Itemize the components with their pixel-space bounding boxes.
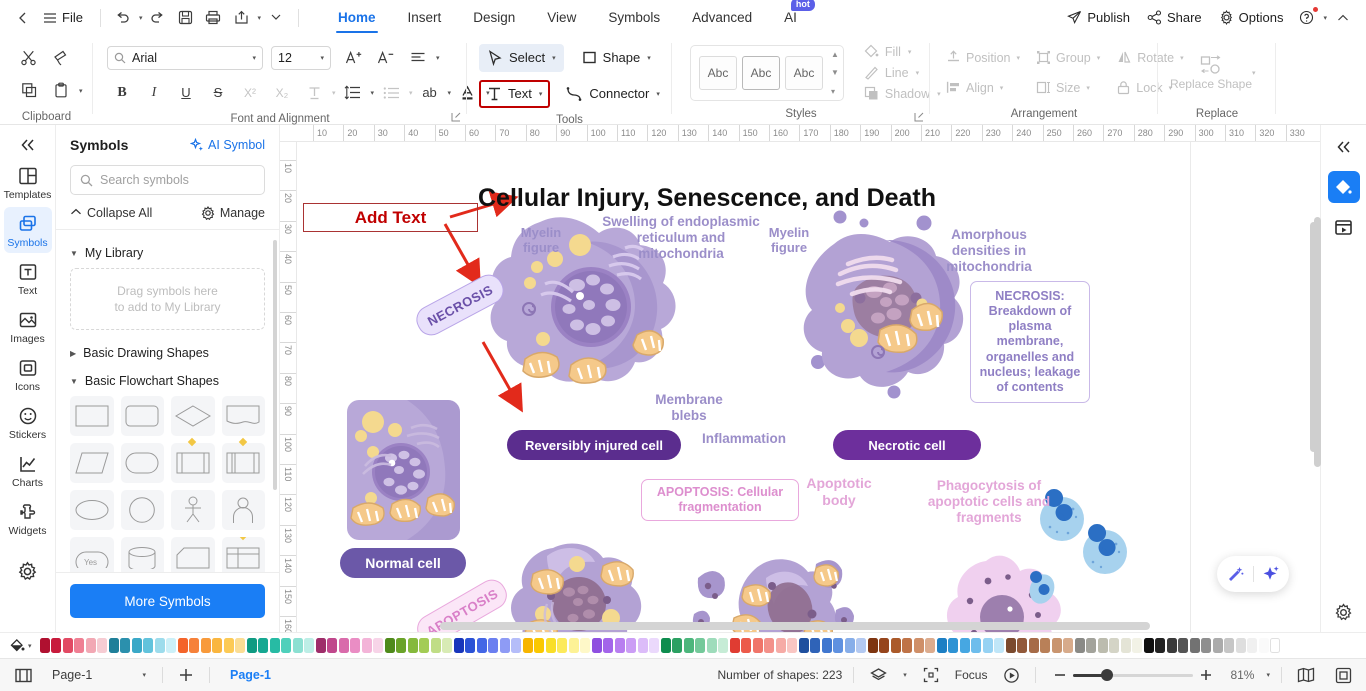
focus-icon[interactable] — [918, 662, 944, 688]
decrease-font-size-icon[interactable] — [371, 43, 401, 73]
ruler-tick: 280 — [1134, 125, 1153, 141]
color-swatch[interactable] — [787, 638, 797, 653]
adjust-handle[interactable] — [188, 438, 196, 446]
ruler-tick: 120 — [647, 125, 666, 141]
share-button[interactable]: Share — [1140, 6, 1209, 29]
palette-dropdown-icon[interactable]: ▾ — [28, 642, 32, 650]
color-swatch[interactable] — [1224, 638, 1234, 653]
font-dialog-launcher[interactable] — [451, 112, 461, 122]
color-swatch[interactable] — [304, 638, 314, 653]
color-swatch[interactable] — [1236, 638, 1246, 653]
color-swatch[interactable] — [511, 638, 521, 653]
color-swatch[interactable] — [776, 638, 786, 653]
add-page-button[interactable] — [173, 662, 199, 688]
page-selector[interactable]: Page-1 ▾ — [46, 664, 152, 686]
color-swatch[interactable] — [856, 638, 866, 653]
sidebar-item-stickers[interactable]: Stickers — [4, 399, 52, 445]
color-swatch[interactable] — [247, 638, 257, 653]
zoom-out-button[interactable] — [1047, 662, 1073, 688]
ai-assistant-float[interactable] — [1217, 556, 1289, 592]
color-swatch[interactable] — [1075, 638, 1085, 653]
color-swatch[interactable] — [120, 638, 130, 653]
ribbon-group-styles: Abc Abc Abc ▲ ▼ ▾ Fill ▾ — [672, 35, 930, 124]
ruler-tick: 130 — [678, 125, 697, 141]
layout-icon[interactable] — [10, 662, 36, 688]
color-swatch[interactable] — [1098, 638, 1108, 653]
color-swatch[interactable] — [1052, 638, 1062, 653]
export-dropdown-icon[interactable]: ▾ — [257, 14, 261, 22]
tab-home[interactable]: Home — [322, 0, 392, 35]
chevron-down-icon[interactable]: ▾ — [320, 54, 324, 62]
color-swatch[interactable] — [1167, 638, 1177, 653]
panel-scrollbar[interactable] — [273, 240, 277, 490]
shape-stadium[interactable] — [121, 443, 165, 483]
text-case-icon[interactable]: text-case-iconab — [415, 78, 445, 108]
style-scroll-up-icon[interactable]: ▲ — [831, 50, 839, 59]
chevron-down-icon[interactable]: ▾ — [1000, 84, 1004, 92]
color-swatch[interactable] — [373, 638, 383, 653]
color-swatch[interactable] — [143, 638, 153, 653]
shape-rectangle[interactable] — [70, 396, 114, 436]
chevron-down-icon[interactable]: ▾ — [539, 90, 543, 98]
necrotic-cell-pill[interactable]: Necrotic cell — [833, 430, 981, 460]
color-swatch[interactable] — [1040, 638, 1050, 653]
publish-button[interactable]: Publish — [1060, 6, 1137, 29]
label-membrane-blebs[interactable]: Membrane blebs — [643, 392, 735, 424]
size-button[interactable]: Size ▾ — [1030, 74, 1106, 102]
shape-tool-button[interactable]: Shape ▾ — [574, 44, 659, 72]
color-swatch[interactable] — [822, 638, 832, 653]
adjust-handle[interactable] — [238, 438, 246, 446]
color-swatch[interactable] — [454, 638, 464, 653]
style-preview-2[interactable]: Abc — [742, 56, 780, 90]
ribbon-tabs: Home Insert Design View Symbols Advanced… — [322, 0, 813, 35]
color-swatch[interactable] — [684, 638, 694, 653]
canvas-horizontal-scrollbar[interactable] — [440, 622, 1150, 630]
sidebar-item-widgets[interactable]: Widgets — [4, 495, 52, 541]
color-swatch[interactable] — [1201, 638, 1211, 653]
copy-icon[interactable] — [14, 76, 44, 106]
shape-predefined-process[interactable] — [171, 443, 215, 483]
color-swatch[interactable] — [350, 638, 360, 653]
subscript-button[interactable]: X₂ — [267, 78, 297, 108]
shape-ellipse[interactable] — [70, 490, 114, 530]
label-myelin-figure-right[interactable]: Myelin figure — [758, 225, 820, 256]
text-style-icon[interactable] — [299, 78, 329, 108]
shape-yes-tag[interactable]: Yes — [70, 537, 114, 572]
layers-dropdown-icon[interactable]: ▾ — [903, 671, 907, 679]
increase-font-size-icon[interactable] — [339, 43, 369, 73]
color-swatch[interactable] — [1132, 638, 1142, 653]
chevron-down-icon[interactable]: ▾ — [1097, 54, 1101, 62]
chevron-down-icon: ▼ — [70, 377, 78, 386]
format-painter-icon[interactable] — [46, 43, 76, 73]
divider — [1035, 667, 1036, 683]
color-swatch[interactable] — [557, 638, 567, 653]
color-swatch[interactable] — [925, 638, 935, 653]
color-swatch[interactable] — [74, 638, 84, 653]
color-swatch[interactable] — [465, 638, 475, 653]
color-swatch[interactable] — [580, 638, 590, 653]
right-settings-gear-icon[interactable] — [1334, 603, 1353, 622]
color-swatch[interactable] — [1155, 638, 1165, 653]
color-swatch[interactable] — [339, 638, 349, 653]
replace-dropdown-icon[interactable]: ▾ — [1252, 69, 1256, 77]
color-swatch[interactable] — [1259, 638, 1269, 653]
label-inflammation[interactable]: Inflammation — [694, 431, 794, 447]
shape-document[interactable] — [222, 396, 266, 436]
color-swatch[interactable] — [1213, 638, 1223, 653]
color-swatch[interactable] — [442, 638, 452, 653]
superscript-button[interactable]: X² — [235, 78, 265, 108]
print-icon[interactable] — [200, 5, 226, 31]
style-preview-3[interactable]: Abc — [785, 56, 823, 90]
section-my-library[interactable]: ▼ My Library — [70, 246, 265, 260]
sidebar-item-charts[interactable]: Charts — [4, 447, 52, 493]
color-swatch[interactable] — [408, 638, 418, 653]
chevron-down-icon[interactable]: ▾ — [1016, 54, 1020, 62]
export-icon[interactable] — [228, 5, 254, 31]
color-swatch[interactable] — [385, 638, 395, 653]
color-swatch[interactable] — [764, 638, 774, 653]
color-swatch[interactable] — [603, 638, 613, 653]
underline-button[interactable]: U — [171, 78, 201, 108]
select-tool-button[interactable]: Select ▾ — [479, 44, 564, 72]
bullet-list-icon[interactable] — [376, 78, 406, 108]
replace-shape-button[interactable]: Replace Shape — [1166, 42, 1256, 104]
present-icon[interactable] — [998, 662, 1024, 688]
shape-cylinder[interactable] — [121, 537, 165, 572]
fill-bucket-icon[interactable]: ▾ — [8, 637, 32, 654]
reversibly-injured-cell-pill[interactable]: Reversibly injured cell — [507, 430, 681, 460]
color-swatch[interactable] — [86, 638, 96, 653]
color-swatch[interactable] — [879, 638, 889, 653]
help-dropdown-icon[interactable]: ▾ — [1323, 14, 1327, 22]
layers-icon[interactable] — [865, 662, 891, 688]
color-swatch[interactable] — [994, 638, 1004, 653]
color-swatch[interactable] — [983, 638, 993, 653]
chevron-down-icon[interactable]: ▾ — [916, 69, 920, 77]
color-swatch[interactable] — [316, 638, 326, 653]
color-swatch[interactable] — [109, 638, 119, 653]
page-tab-1[interactable]: Page-1 — [220, 668, 281, 682]
shape-person[interactable] — [222, 490, 266, 530]
color-swatch[interactable] — [270, 638, 280, 653]
chevron-down-icon[interactable]: ▾ — [647, 54, 651, 62]
chevron-down-icon[interactable]: ▾ — [142, 671, 146, 679]
sidebar-item-symbols[interactable]: Symbols — [4, 207, 52, 253]
chevron-down-icon[interactable]: ▾ — [908, 48, 912, 56]
chevron-down-icon[interactable]: ▾ — [552, 54, 556, 62]
ruler-tick: 50 — [280, 282, 296, 295]
color-swatch[interactable] — [281, 638, 291, 653]
left-rail: Templates Symbols Text Images Icons Stic… — [0, 125, 56, 632]
color-swatch[interactable] — [661, 638, 671, 653]
sidebar-label: Text — [18, 285, 37, 297]
more-symbols-button[interactable]: More Symbols — [70, 584, 265, 618]
italic-button[interactable]: I — [139, 78, 169, 108]
sidebar-item-templates[interactable]: Templates — [4, 159, 52, 205]
shadow-label: Shadow — [885, 87, 930, 101]
font-size-input[interactable]: 12 ▾ — [271, 46, 331, 70]
redo-icon[interactable] — [144, 5, 170, 31]
line-spacing-icon[interactable] — [338, 78, 368, 108]
color-swatch[interactable] — [63, 638, 73, 653]
color-swatch[interactable] — [40, 638, 50, 653]
color-swatch[interactable] — [1190, 638, 1200, 653]
scissors-icon[interactable] — [14, 43, 44, 73]
align-dropdown-icon[interactable]: ▾ — [436, 54, 440, 62]
color-swatch[interactable] — [1006, 638, 1016, 653]
color-swatch[interactable] — [523, 638, 533, 653]
color-swatch[interactable] — [592, 638, 602, 653]
color-swatch[interactable] — [1247, 638, 1257, 653]
section-label: My Library — [85, 246, 143, 260]
save-icon[interactable] — [172, 5, 198, 31]
shape-rounded-rectangle[interactable] — [121, 396, 165, 436]
options-button[interactable]: Options — [1212, 6, 1291, 29]
paste-dropdown-icon[interactable]: ▾ — [79, 87, 83, 95]
file-menu-button[interactable]: File — [38, 7, 91, 28]
collapse-all-button[interactable]: Collapse All — [70, 206, 152, 220]
color-swatch[interactable] — [1109, 638, 1119, 653]
zoom-dropdown-icon[interactable]: ▾ — [1266, 671, 1270, 679]
text-tool-button[interactable]: Text ▾ — [479, 80, 550, 108]
color-swatch[interactable] — [868, 638, 878, 653]
zoom-track[interactable] — [1073, 674, 1193, 677]
ribbon-toolbar: ▾ Clipboard Arial ▾ 12 ▾ — [0, 35, 1366, 125]
sidebar-label: Images — [10, 333, 44, 345]
style-expand-icon[interactable]: ▾ — [831, 87, 839, 96]
color-swatch[interactable] — [649, 638, 659, 653]
svg-text:Yes: Yes — [84, 558, 97, 567]
color-swatch[interactable] — [626, 638, 636, 653]
color-swatch[interactable] — [902, 638, 912, 653]
color-swatch[interactable] — [212, 638, 222, 653]
color-swatch[interactable] — [1178, 638, 1188, 653]
normal-cell-pill[interactable]: Normal cell — [340, 548, 466, 578]
help-icon[interactable] — [1293, 5, 1319, 31]
sidebar-item-text[interactable]: Text — [4, 255, 52, 301]
sparkle-icon[interactable] — [1254, 565, 1289, 583]
search-input[interactable]: Search symbols — [70, 165, 265, 195]
color-swatch[interactable] — [891, 638, 901, 653]
list-dropdown-icon[interactable]: ▾ — [409, 89, 413, 97]
tab-ai[interactable]: AI hot — [768, 0, 813, 35]
color-swatch[interactable] — [845, 638, 855, 653]
group-button[interactable]: Group ▾ — [1030, 44, 1106, 72]
color-swatch[interactable] — [419, 638, 429, 653]
color-swatch[interactable] — [235, 638, 245, 653]
label-apoptotic-body[interactable]: Apoptotic body — [798, 475, 880, 508]
shape-card[interactable] — [171, 537, 215, 572]
color-swatch[interactable] — [1017, 638, 1027, 653]
color-swatch[interactable] — [224, 638, 234, 653]
position-button[interactable]: Position ▾ — [940, 44, 1026, 72]
style-preview-1[interactable]: Abc — [699, 56, 737, 90]
strikethrough-button[interactable]: S — [203, 78, 233, 108]
chevron-up-icon[interactable] — [1330, 5, 1356, 31]
paint-bucket-icon[interactable] — [1328, 171, 1360, 203]
font-family-input[interactable]: Arial ▾ — [107, 46, 263, 70]
color-swatch[interactable] — [672, 638, 682, 653]
color-swatch[interactable] — [1029, 638, 1039, 653]
zoom-level-label[interactable]: 81% — [1230, 668, 1254, 682]
shape-table[interactable] — [222, 537, 266, 572]
color-swatch[interactable] — [948, 638, 958, 653]
fit-to-screen-icon[interactable] — [1330, 662, 1356, 688]
ai-symbol-button[interactable]: AI Symbol — [190, 138, 265, 152]
chevron-down-icon[interactable]: ▾ — [252, 54, 256, 62]
line-spacing-dropdown-icon[interactable]: ▾ — [371, 89, 375, 97]
style-gallery[interactable]: Abc Abc Abc ▲ ▼ ▾ — [690, 45, 844, 101]
style-scroll-down-icon[interactable]: ▼ — [831, 68, 839, 77]
ruler-tick: 100 — [587, 125, 606, 141]
tab-label: AI — [784, 10, 797, 25]
collapse-left-icon[interactable] — [0, 131, 55, 159]
chevron-down-icon[interactable]: ▾ — [1086, 84, 1090, 92]
color-swatch[interactable] — [178, 638, 188, 653]
color-swatch[interactable] — [1270, 638, 1280, 653]
connector-tool-button[interactable]: Connector ▾ — [558, 80, 668, 108]
sidebar-item-images[interactable]: Images — [4, 303, 52, 349]
section-basic-flowchart-shapes[interactable]: ▼ Basic Flowchart Shapes — [70, 374, 265, 388]
label-amorphous-densities[interactable]: Amorphous densities in mitochondria — [933, 227, 1045, 275]
magic-wand-icon[interactable] — [1218, 566, 1253, 583]
color-swatch[interactable] — [132, 638, 142, 653]
shape-diamond[interactable] — [171, 396, 215, 436]
tab-advanced[interactable]: Advanced — [676, 0, 768, 35]
chevron-down-icon[interactable] — [263, 5, 289, 31]
color-swatch[interactable] — [833, 638, 843, 653]
color-swatch[interactable] — [258, 638, 268, 653]
color-swatch[interactable] — [810, 638, 820, 653]
collapse-right-icon[interactable] — [1328, 131, 1360, 163]
bold-button[interactable]: B — [107, 78, 137, 108]
color-swatch[interactable] — [718, 638, 728, 653]
color-swatch[interactable] — [914, 638, 924, 653]
panel-scrollbar[interactable] — [1314, 217, 1321, 467]
color-swatch[interactable] — [155, 638, 165, 653]
panel-icon[interactable] — [1328, 211, 1360, 243]
color-swatch[interactable] — [500, 638, 510, 653]
focus-label[interactable]: Focus — [955, 668, 988, 682]
shape-internal-storage[interactable] — [222, 443, 266, 483]
color-swatch[interactable] — [431, 638, 441, 653]
tab-view[interactable]: View — [531, 0, 592, 35]
color-swatch[interactable] — [477, 638, 487, 653]
tab-design[interactable]: Design — [457, 0, 531, 35]
color-swatch[interactable] — [707, 638, 717, 653]
color-swatch[interactable] — [201, 638, 211, 653]
color-swatch[interactable] — [1063, 638, 1073, 653]
section-label: Basic Drawing Shapes — [83, 346, 209, 360]
align-label: Align — [966, 81, 994, 95]
color-swatch[interactable] — [327, 638, 337, 653]
color-swatch[interactable] — [293, 638, 303, 653]
adjust-handle[interactable] — [238, 537, 246, 540]
tab-insert[interactable]: Insert — [392, 0, 458, 35]
text-style-dropdown-icon[interactable]: ▾ — [332, 89, 336, 97]
color-swatch[interactable] — [97, 638, 107, 653]
color-swatch[interactable] — [362, 638, 372, 653]
sidebar-item-icons[interactable]: Icons — [4, 351, 52, 397]
symbols-list[interactable]: ▼ My Library Drag symbols here to add to… — [56, 229, 279, 572]
color-swatch[interactable] — [1086, 638, 1096, 653]
apoptosis-callout[interactable]: APOPTOSIS: Cellular fragmentation — [641, 479, 799, 521]
tab-label: Home — [338, 10, 376, 25]
color-swatch[interactable] — [937, 638, 947, 653]
color-swatch[interactable] — [1121, 638, 1131, 653]
color-swatch[interactable] — [396, 638, 406, 653]
back-chevron-icon[interactable] — [10, 5, 36, 31]
document-page[interactable]: Cellular Injury, Senescence, and Death A… — [285, 142, 1190, 632]
canvas-viewport[interactable]: 102030405060708090100110120130140150160 — [280, 142, 1320, 632]
color-swatch[interactable] — [730, 638, 740, 653]
color-swatch[interactable] — [753, 638, 763, 653]
zoom-in-button[interactable] — [1193, 662, 1219, 688]
color-swatch[interactable] — [488, 638, 498, 653]
color-swatch[interactable] — [799, 638, 809, 653]
undo-dropdown-icon[interactable]: ▾ — [139, 14, 143, 22]
color-swatch[interactable] — [1144, 638, 1154, 653]
text-case-dropdown-icon[interactable]: ▾ — [448, 89, 452, 97]
paste-icon[interactable] — [46, 76, 76, 106]
my-library-dropzone[interactable]: Drag symbols here to add to My Library — [70, 268, 265, 330]
page-name: Page-1 — [52, 668, 141, 682]
color-swatch[interactable] — [51, 638, 61, 653]
label-phagocytosis[interactable]: Phagocytosis of apoptotic cells and frag… — [925, 478, 1053, 526]
chevron-up-icon — [70, 207, 82, 219]
sidebar-item-settings[interactable] — [4, 554, 52, 586]
zoom-slider[interactable] — [1047, 662, 1219, 688]
color-swatches[interactable] — [40, 638, 1360, 653]
ruler-tick: 60 — [465, 125, 479, 141]
color-swatch[interactable] — [638, 638, 648, 653]
shape-parallelogram[interactable] — [70, 443, 114, 483]
manage-button[interactable]: Manage — [201, 206, 265, 220]
color-swatch[interactable] — [960, 638, 970, 653]
shape-actor[interactable] — [171, 490, 215, 530]
zoom-knob[interactable] — [1101, 669, 1113, 681]
necrosis-callout[interactable]: NECROSIS: Breakdown of plasma membrane, … — [970, 281, 1090, 403]
color-swatch[interactable] — [741, 638, 751, 653]
color-swatch[interactable] — [546, 638, 556, 653]
tab-symbols[interactable]: Symbols — [592, 0, 676, 35]
align-left-icon[interactable] — [403, 43, 433, 73]
color-swatch[interactable] — [166, 638, 176, 653]
color-swatch[interactable] — [615, 638, 625, 653]
undo-icon[interactable] — [110, 5, 136, 31]
label-myelin-figure-left[interactable]: Myelin figure — [510, 225, 572, 256]
color-swatch[interactable] — [569, 638, 579, 653]
label-swelling-er-mito[interactable]: Swelling of endoplasmic reticulum and mi… — [595, 214, 767, 262]
color-swatch[interactable] — [695, 638, 705, 653]
section-basic-drawing-shapes[interactable]: ▶ Basic Drawing Shapes — [70, 346, 265, 360]
chevron-down-icon[interactable]: ▾ — [656, 90, 660, 98]
align-button[interactable]: Align ▾ — [940, 74, 1026, 102]
color-swatch[interactable] — [534, 638, 544, 653]
status-bar: Page-1 ▾ Page-1 Number of shapes: 223 ▾ … — [0, 658, 1366, 691]
right-rail — [1320, 125, 1366, 632]
color-swatch[interactable] — [971, 638, 981, 653]
add-text-box[interactable]: Add Text — [303, 203, 478, 232]
page-title[interactable]: Cellular Injury, Senescence, and Death — [478, 184, 936, 213]
page-map-icon[interactable] — [1293, 662, 1319, 688]
color-swatch[interactable] — [189, 638, 199, 653]
shape-circle[interactable] — [121, 490, 165, 530]
styles-dialog-launcher[interactable] — [914, 112, 924, 122]
